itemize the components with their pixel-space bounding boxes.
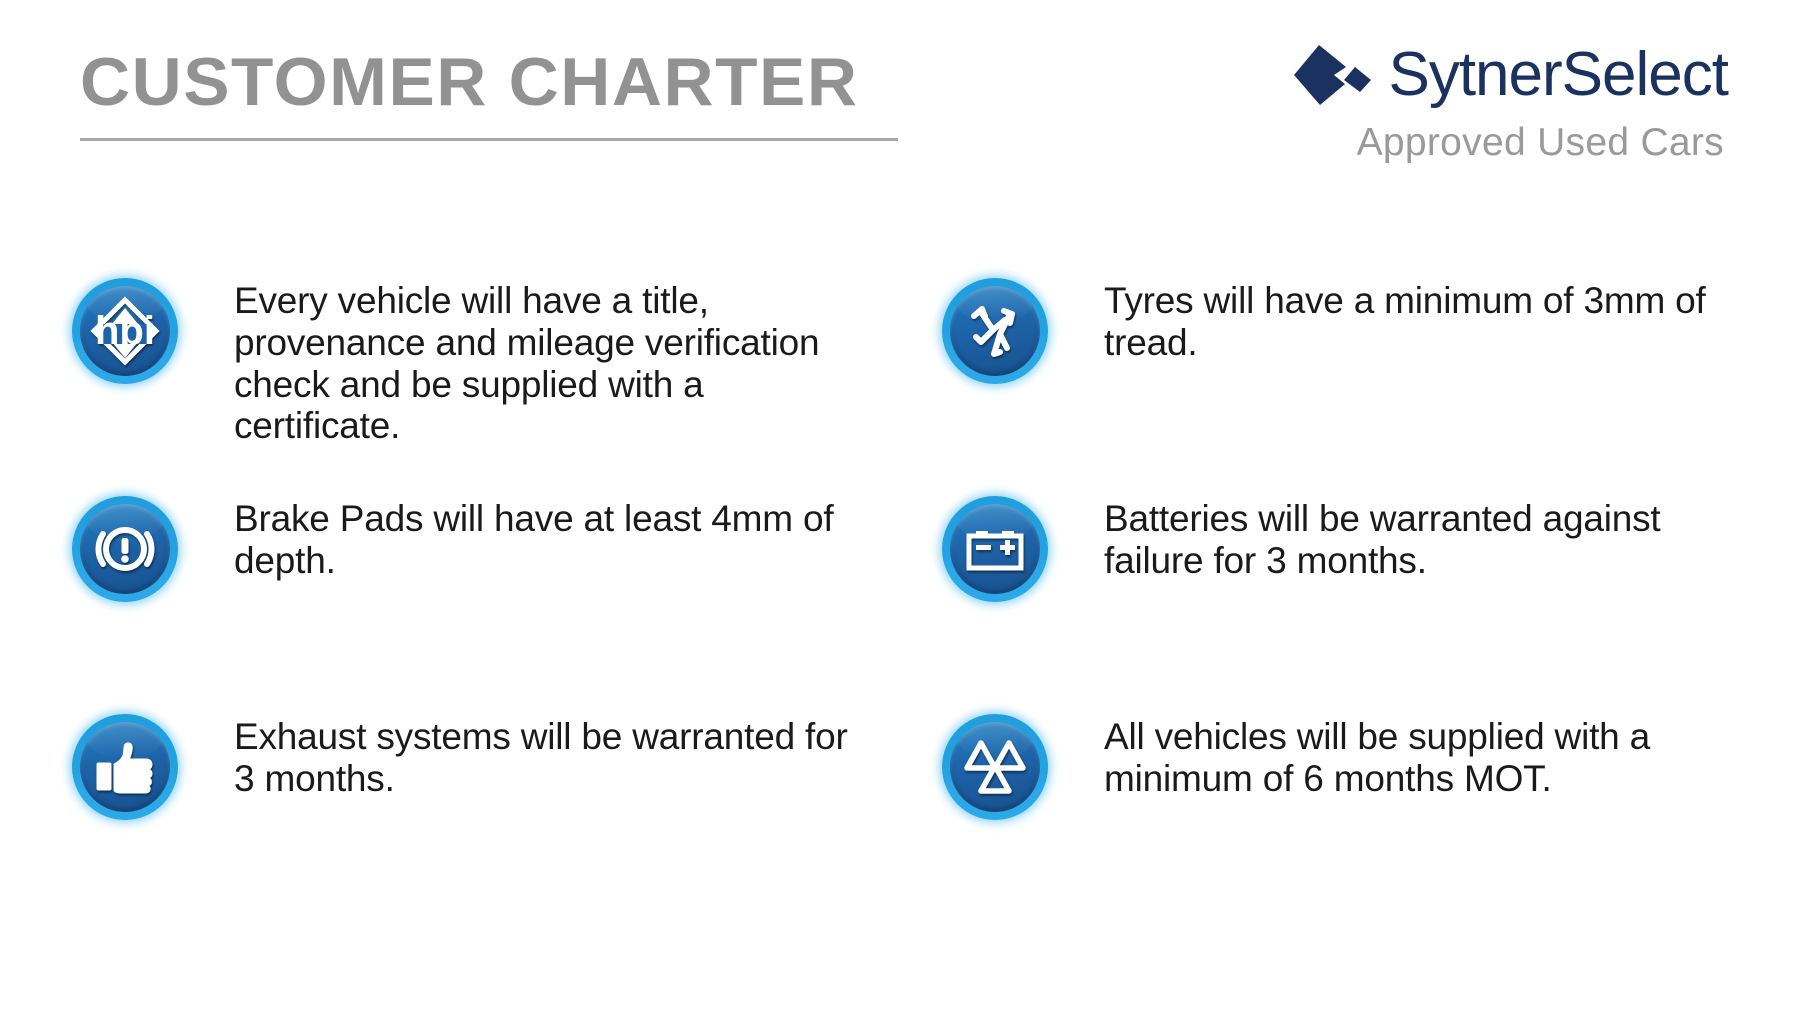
tyre-tread-icon bbox=[942, 278, 1048, 384]
icon-wrap bbox=[62, 496, 234, 602]
icon-wrap: hpi bbox=[62, 278, 234, 384]
charter-item-batteries: Batteries will be warranted against fail… bbox=[932, 496, 1800, 714]
charter-item-text: Tyres will have a minimum of 3mm of trea… bbox=[1104, 278, 1724, 364]
charter-item-hpi: hpi Every vehicle will have a title, pro… bbox=[62, 278, 932, 496]
charter-item-tyres: Tyres will have a minimum of 3mm of trea… bbox=[932, 278, 1800, 496]
hpi-label: hpi bbox=[95, 309, 155, 353]
icon-wrap bbox=[932, 714, 1104, 820]
page-title: CUSTOMER CHARTER bbox=[80, 48, 916, 116]
mot-triangles-icon bbox=[942, 714, 1048, 820]
charter-item-brake-pads: Brake Pads will have at least 4mm of dep… bbox=[62, 496, 932, 714]
title-block: CUSTOMER CHARTER bbox=[80, 48, 900, 141]
icon-wrap bbox=[932, 278, 1104, 384]
logo-wordmark: SytnerSelect bbox=[1388, 44, 1728, 106]
hpi-icon: hpi bbox=[72, 278, 178, 384]
sytner-select-logo: SytnerSelect Approved Used Cars bbox=[1258, 36, 1728, 165]
icon-wrap bbox=[62, 714, 234, 820]
page-header: CUSTOMER CHARTER SytnerSelect Approved U… bbox=[0, 0, 1800, 200]
charter-list: hpi Every vehicle will have a title, pro… bbox=[0, 278, 1800, 932]
logo-brand-sytner: Sytner bbox=[1388, 40, 1561, 109]
charter-item-text: Every vehicle will have a title, provena… bbox=[234, 278, 854, 447]
car-battery-icon bbox=[942, 496, 1048, 602]
logo-brand-select: Select bbox=[1562, 40, 1728, 109]
charter-item-text: Brake Pads will have at least 4mm of dep… bbox=[234, 496, 854, 582]
logo-tagline: Approved Used Cars bbox=[1258, 122, 1728, 165]
charter-item-text: Exhaust systems will be warranted for 3 … bbox=[234, 714, 854, 800]
charter-item-text: Batteries will be warranted against fail… bbox=[1104, 496, 1724, 582]
charter-item-exhaust: Exhaust systems will be warranted for 3 … bbox=[62, 714, 932, 932]
title-divider bbox=[80, 138, 898, 141]
brake-warning-icon bbox=[72, 496, 178, 602]
icon-wrap bbox=[932, 496, 1104, 602]
sytner-diamond-mark-icon bbox=[1292, 43, 1374, 107]
charter-item-text: All vehicles will be supplied with a min… bbox=[1104, 714, 1724, 800]
thumbs-up-icon bbox=[72, 714, 178, 820]
charter-item-mot: All vehicles will be supplied with a min… bbox=[932, 714, 1800, 932]
logo-lockup: SytnerSelect bbox=[1258, 36, 1728, 114]
